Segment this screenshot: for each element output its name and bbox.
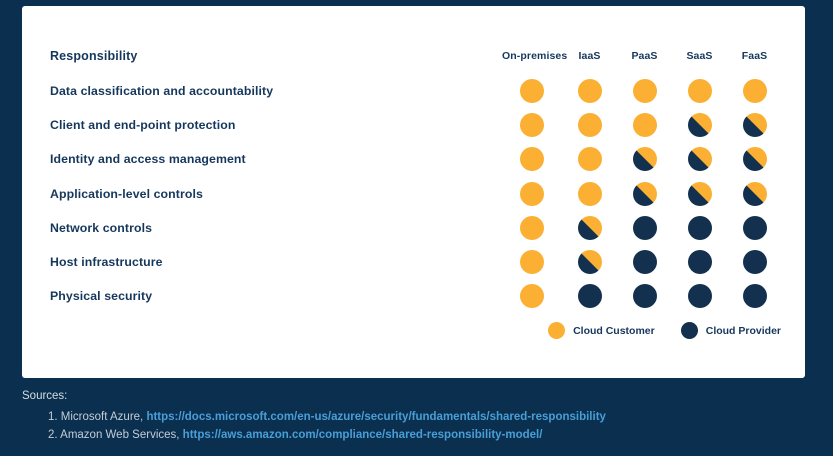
table-row: Data classification and accountability	[50, 74, 782, 108]
provider-swatch-icon	[681, 322, 698, 339]
ownership-cell	[672, 245, 727, 279]
provider-marker-icon	[633, 250, 657, 274]
source-name: Microsoft Azure,	[61, 411, 143, 423]
ownership-cell	[617, 74, 672, 108]
customer-marker-icon	[743, 79, 767, 103]
column-header-responsibility: Responsibility	[50, 38, 502, 74]
responsibility-label: Client and end-point protection	[50, 108, 502, 142]
responsibility-label: Application-level controls	[50, 177, 502, 211]
table-row: Client and end-point protection	[50, 108, 782, 142]
responsibility-label: Data classification and accountability	[50, 74, 502, 108]
ownership-cell	[727, 108, 782, 142]
ownership-cell	[562, 108, 617, 142]
shared-marker-icon	[578, 216, 602, 240]
legend-label: Cloud Customer	[573, 325, 655, 337]
source-link[interactable]: https://aws.amazon.com/compliance/shared…	[183, 429, 543, 441]
source-link[interactable]: https://docs.microsoft.com/en-us/azure/s…	[146, 411, 605, 423]
customer-marker-icon	[633, 79, 657, 103]
ownership-cell	[562, 74, 617, 108]
customer-marker-icon	[578, 182, 602, 206]
legend-label: Cloud Provider	[706, 325, 781, 337]
source-number: 2.	[48, 429, 58, 441]
ownership-cell	[502, 108, 562, 142]
table-header: Responsibility On-premises IaaS PaaS Saa…	[50, 38, 782, 74]
table-row: Physical security	[50, 279, 782, 313]
ownership-cell	[562, 211, 617, 245]
ownership-cell	[502, 142, 562, 176]
table-body: Data classification and accountabilityCl…	[50, 74, 782, 313]
provider-marker-icon	[743, 250, 767, 274]
source-item: 2. Amazon Web Services, https://aws.amaz…	[48, 429, 812, 441]
column-header-iaas: IaaS	[562, 38, 617, 74]
customer-marker-icon	[578, 147, 602, 171]
ownership-cell	[672, 108, 727, 142]
column-header-faas: FaaS	[727, 38, 782, 74]
legend-item-customer: Cloud Customer	[548, 322, 655, 339]
ownership-cell	[502, 211, 562, 245]
provider-marker-icon	[688, 284, 712, 308]
customer-swatch-icon	[548, 322, 565, 339]
customer-marker-icon	[520, 250, 544, 274]
ownership-cell	[672, 142, 727, 176]
source-number: 1.	[48, 411, 58, 423]
ownership-cell	[562, 245, 617, 279]
shared-responsibility-table: Responsibility On-premises IaaS PaaS Saa…	[50, 38, 782, 313]
provider-marker-icon	[578, 284, 602, 308]
ownership-cell	[562, 279, 617, 313]
customer-marker-icon	[633, 113, 657, 137]
table-row: Identity and access management	[50, 142, 782, 176]
ownership-cell	[727, 177, 782, 211]
table-row: Application-level controls	[50, 177, 782, 211]
customer-marker-icon	[520, 79, 544, 103]
responsibility-label: Physical security	[50, 279, 502, 313]
table-row: Network controls	[50, 211, 782, 245]
ownership-cell	[672, 74, 727, 108]
source-item: 1. Microsoft Azure, https://docs.microso…	[48, 411, 812, 423]
ownership-cell	[727, 245, 782, 279]
shared-marker-icon	[688, 147, 712, 171]
legend: Cloud CustomerCloud Provider	[22, 322, 781, 339]
ownership-cell	[502, 279, 562, 313]
shared-marker-icon	[633, 182, 657, 206]
ownership-cell	[672, 211, 727, 245]
shared-marker-icon	[743, 182, 767, 206]
source-name: Amazon Web Services,	[60, 429, 179, 441]
ownership-cell	[727, 74, 782, 108]
sources-section: Sources: 1. Microsoft Azure, https://doc…	[22, 390, 812, 447]
ownership-cell	[562, 142, 617, 176]
customer-marker-icon	[520, 284, 544, 308]
ownership-cell	[502, 245, 562, 279]
table-header-row: Responsibility On-premises IaaS PaaS Saa…	[50, 38, 782, 74]
ownership-cell	[672, 177, 727, 211]
customer-marker-icon	[520, 147, 544, 171]
shared-marker-icon	[688, 113, 712, 137]
ownership-cell	[617, 279, 672, 313]
responsibility-label: Network controls	[50, 211, 502, 245]
responsibility-label: Host infrastructure	[50, 245, 502, 279]
provider-marker-icon	[743, 284, 767, 308]
ownership-cell	[562, 177, 617, 211]
provider-marker-icon	[688, 250, 712, 274]
shared-responsibility-card: Responsibility On-premises IaaS PaaS Saa…	[22, 6, 805, 378]
sources-title: Sources:	[22, 390, 812, 402]
legend-item-provider: Cloud Provider	[681, 322, 781, 339]
responsibility-label: Identity and access management	[50, 142, 502, 176]
customer-marker-icon	[520, 113, 544, 137]
provider-marker-icon	[743, 216, 767, 240]
ownership-cell	[502, 74, 562, 108]
customer-marker-icon	[688, 79, 712, 103]
ownership-cell	[617, 142, 672, 176]
provider-marker-icon	[633, 284, 657, 308]
customer-marker-icon	[520, 216, 544, 240]
ownership-cell	[727, 142, 782, 176]
ownership-cell	[617, 108, 672, 142]
shared-marker-icon	[578, 250, 602, 274]
customer-marker-icon	[578, 79, 602, 103]
shared-marker-icon	[743, 147, 767, 171]
provider-marker-icon	[633, 216, 657, 240]
column-header-saas: SaaS	[672, 38, 727, 74]
column-header-on-premises: On-premises	[502, 38, 562, 74]
customer-marker-icon	[578, 113, 602, 137]
column-header-paas: PaaS	[617, 38, 672, 74]
ownership-cell	[502, 177, 562, 211]
shared-marker-icon	[743, 113, 767, 137]
ownership-cell	[727, 279, 782, 313]
ownership-cell	[617, 211, 672, 245]
provider-marker-icon	[688, 216, 712, 240]
ownership-cell	[617, 177, 672, 211]
customer-marker-icon	[520, 182, 544, 206]
shared-marker-icon	[688, 182, 712, 206]
sources-list: 1. Microsoft Azure, https://docs.microso…	[22, 411, 812, 441]
ownership-cell	[672, 279, 727, 313]
shared-marker-icon	[633, 147, 657, 171]
ownership-cell	[617, 245, 672, 279]
ownership-cell	[727, 211, 782, 245]
table-row: Host infrastructure	[50, 245, 782, 279]
